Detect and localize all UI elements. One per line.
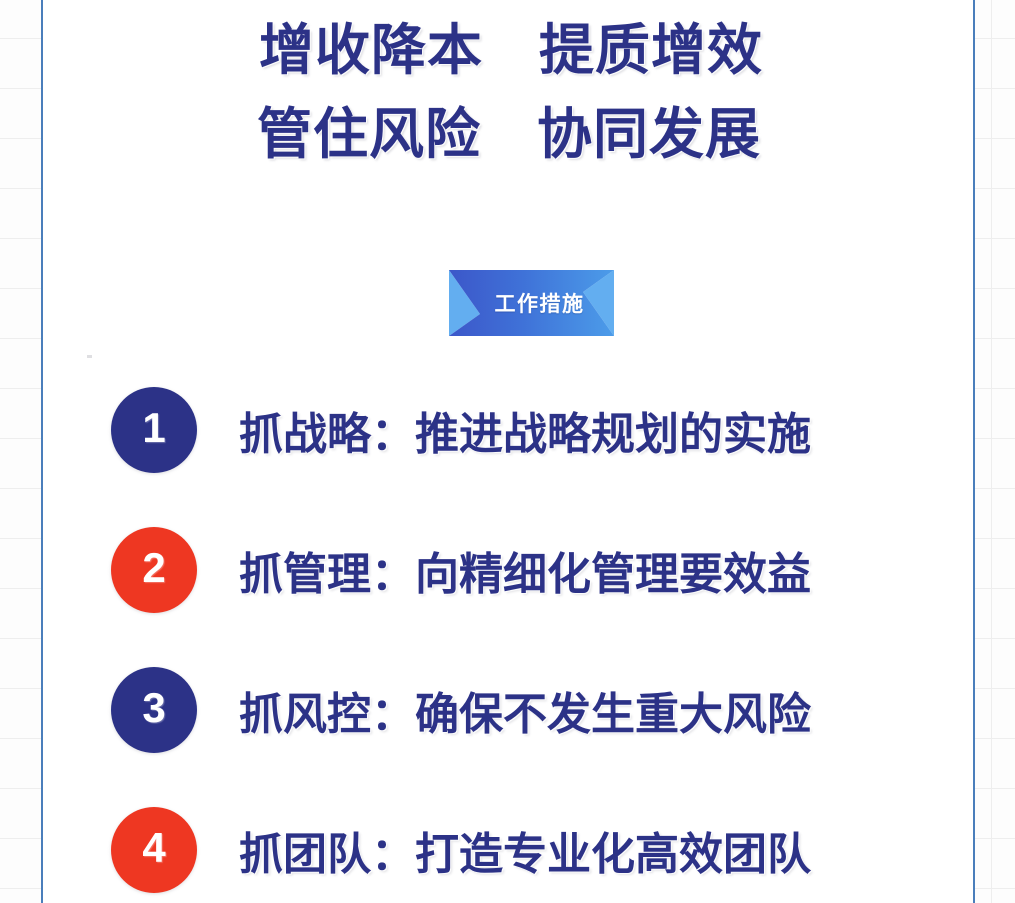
measure-number: 1: [142, 407, 165, 449]
measure-number-badge: 2: [111, 527, 197, 613]
measure-text: 抓团队：打造专业化高效团队: [239, 818, 811, 882]
ribbon-body: [449, 270, 614, 336]
list-item[interactable]: 2 抓管理：向精细化管理要效益: [43, 500, 973, 640]
document-page[interactable]: 增收降本 提质增效 管住风险 协同发展 工作措施 1: [41, 0, 975, 903]
headline-line-1: 增收降本 提质增效: [43, 8, 973, 92]
measure-number-badge: 1: [111, 387, 197, 473]
measure-text: 抓风控：确保不发生重大风险: [239, 678, 811, 742]
list-item[interactable]: 4 抓团队：打造专业化高效团队: [43, 780, 973, 903]
measure-text: 抓管理：向精细化管理要效益: [239, 538, 811, 602]
page-title: 增收降本 提质增效 管住风险 协同发展: [43, 8, 973, 176]
page-artifact-mark: [87, 355, 92, 358]
measure-number: 2: [142, 547, 165, 589]
section-banner: 工作措施: [418, 270, 643, 342]
measure-number-badge: 3: [111, 667, 197, 753]
measure-number: 3: [142, 687, 165, 729]
measure-text: 抓战略：推进战略规划的实施: [239, 398, 811, 462]
list-item[interactable]: 3 抓风控：确保不发生重大风险: [43, 640, 973, 780]
headline-line-2: 管住风险 协同发展: [43, 92, 973, 176]
ribbon-shape-icon: [418, 270, 643, 342]
measures-list: 1 抓战略：推进战略规划的实施 2 抓管理：向精细化管理要效益 3 抓风控：确保…: [43, 360, 973, 903]
list-item[interactable]: 1 抓战略：推进战略规划的实施: [43, 360, 973, 500]
measure-number-badge: 4: [111, 807, 197, 893]
measure-number: 4: [142, 827, 165, 869]
